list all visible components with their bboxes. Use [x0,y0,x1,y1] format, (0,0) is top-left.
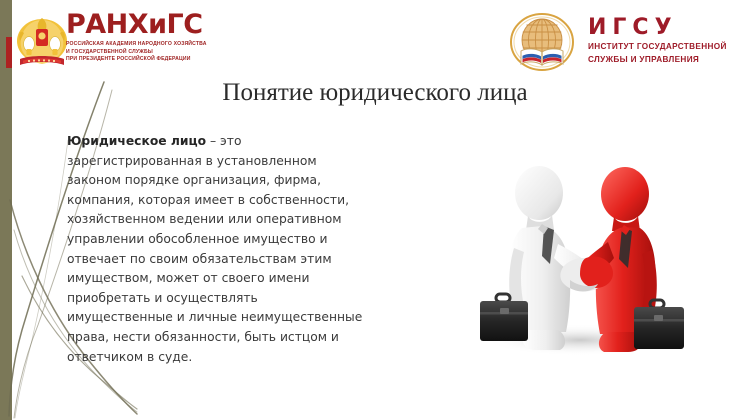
ranepa-subtitle-line3: ПРИ ПРЕЗИДЕНТЕ РОССИЙСКОЙ ФЕДЕРАЦИИ [66,56,216,63]
russian-state-emblem-icon [14,15,70,75]
body-paragraph: Юридическое лицо – это зарегистрированна… [67,132,367,367]
slide-title: Понятие юридического лица [120,78,630,108]
logo-ranepa: РАНХиГС РОССИЙСКАЯ АКАДЕМИЯ НАРОДНОГО ХО… [14,10,214,78]
igsu-wordmark-block: ИГСУ ИНСТИТУТ ГОСУДАРСТВЕННОЙ СЛУЖБЫ И У… [588,16,744,65]
lead-term: Юридическое лицо [67,134,206,148]
ranepa-wordmark: РАНХиГС [66,10,216,40]
igsu-subtitle-line1: ИНСТИТУТ ГОСУДАРСТВЕННОЙ [588,42,744,53]
globe-and-book-emblem-icon [508,12,576,74]
slide: РАНХиГС РОССИЙСКАЯ АКАДЕМИЯ НАРОДНОГО ХО… [0,0,750,420]
ranepa-subtitle-line1: РОССИЙСКАЯ АКАДЕМИЯ НАРОДНОГО ХОЗЯЙСТВА [66,41,216,48]
body-text: – это зарегистрированная в установленном… [67,134,362,364]
handshake-illustration [462,152,698,364]
briefcase-left [480,294,528,341]
ranepa-subtitle-line2: И ГОСУДАРСТВЕННОЙ СЛУЖБЫ [66,49,216,56]
igsu-wordmark: ИГСУ [588,16,744,40]
igsu-subtitle-line2: СЛУЖБЫ И УПРАВЛЕНИЯ [588,55,744,66]
ranepa-wordmark-block: РАНХиГС РОССИЙСКАЯ АКАДЕМИЯ НАРОДНОГО ХО… [66,10,216,63]
briefcase-right [634,300,684,349]
logo-igsu: ИГСУ ИНСТИТУТ ГОСУДАРСТВЕННОЙ СЛУЖБЫ И У… [508,12,744,74]
